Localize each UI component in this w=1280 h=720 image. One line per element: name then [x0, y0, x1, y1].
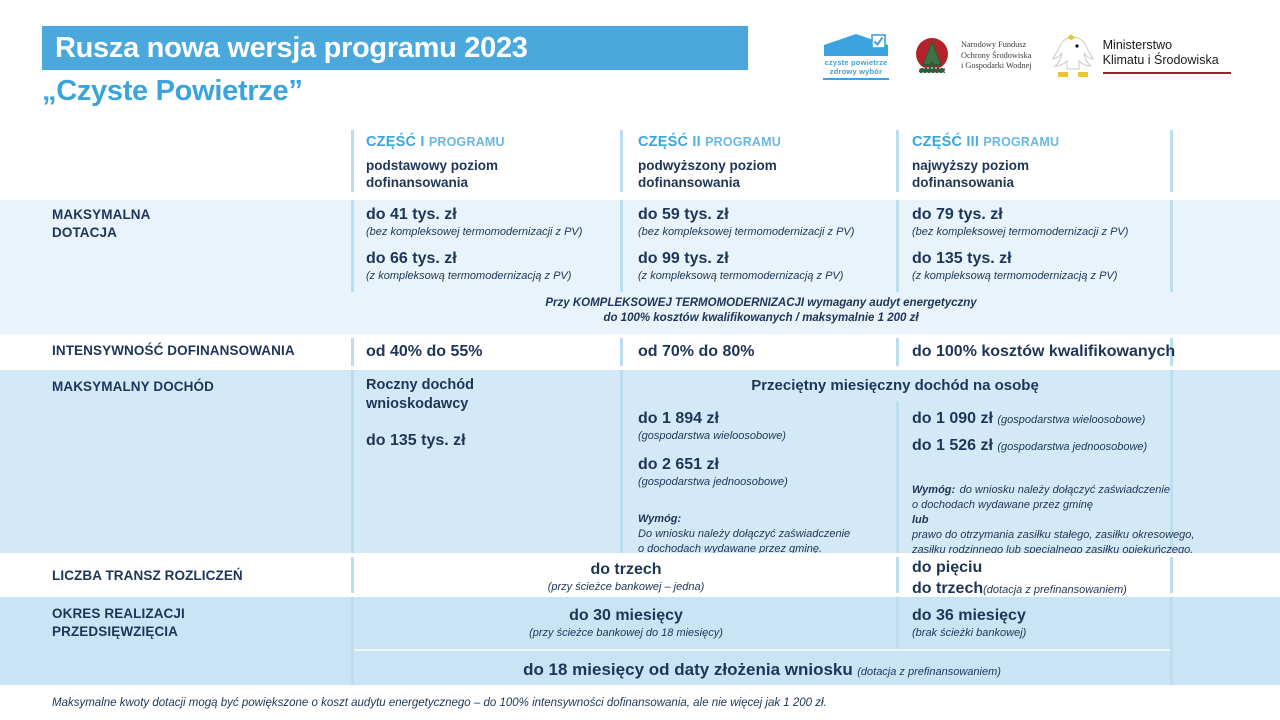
intensywnosc-divider-2	[620, 338, 623, 366]
dochod-c2-b-note: (gospodarstwa jednoosobowe)	[638, 475, 888, 490]
dochod-c3-b-note: (gospodarstwa jednoosobowe)	[997, 441, 1147, 453]
dochod-c3-req-text2: o dochodach wydawane przez gminę	[912, 498, 1252, 513]
nfosigw-line1: Narodowy Fundusz	[961, 40, 1032, 51]
dochod-c3-req-text1: do wniosku należy dołączyć zaświadczenie	[960, 484, 1170, 496]
row-intensywnosc: INTENSYWNOŚĆ DOFINANSOWANIA od 40% do 55…	[0, 334, 1280, 370]
dotacja-c3-a-note: (bez kompleksowej termomodernizacji z PV…	[912, 225, 1172, 240]
column-1-kicker-prefix: CZĘŚĆ	[366, 134, 416, 150]
column-header-band: CZĘŚĆ I PROGRAMU podstawowy poziom dofin…	[0, 112, 1280, 200]
transze-c3-value2: do trzech	[912, 580, 983, 597]
column-2-roman: II	[692, 134, 700, 150]
okres-c12-note: (przy ścieżce bankowej do 18 miesięcy)	[366, 626, 886, 641]
column-2-kicker: CZĘŚĆ II PROGRAMU	[638, 132, 888, 152]
column-3-kicker: CZĘŚĆ III PROGRAMU	[912, 132, 1172, 152]
page-title-line1: Rusza nowa wersja programu 2023	[55, 28, 528, 68]
column-2-kicker-suffix: PROGRAMU	[705, 135, 781, 149]
ministerstwo-line1: Ministerstwo	[1103, 38, 1231, 53]
dochod-banner: Przeciętny miesięczny dochód na osobę	[620, 376, 1170, 395]
column-3-subtitle: najwyższy poziom dofinansowania	[912, 157, 1172, 191]
dotacja-divider-3	[896, 200, 899, 292]
okres-col-3: do 36 miesięcy (brak ścieżki bankowej)	[912, 605, 1252, 641]
okres-c3-note: (brak ścieżki bankowej)	[912, 626, 1252, 641]
column-2-kicker-prefix: CZĘŚĆ	[638, 134, 688, 150]
dotacja-col-2: do 59 tys. zł (bez kompleksowej termomod…	[638, 204, 894, 284]
okres-col-12: do 30 miesięcy (przy ścieżce bankowej do…	[366, 605, 886, 641]
transze-divider-2	[896, 557, 899, 593]
dochod-col-2: do 1 894 zł (gospodarstwa wieloosobowe) …	[638, 408, 888, 557]
dochod-divider-2	[620, 370, 623, 553]
dochod-c1-value: do 135 tys. zł	[366, 430, 610, 451]
dotacja-c2-b-value: do 99 tys. zł	[638, 248, 894, 269]
cp-logo-line2: zdrowy wybór	[830, 67, 882, 76]
dochod-c1-title: Roczny dochód wnioskodawcy	[366, 376, 610, 414]
dochod-c3-req-text3: prawo do otrzymania zasiłku stałego, zas…	[912, 528, 1252, 543]
column-1-roman: I	[420, 134, 424, 150]
row-label-maksymalna-dotacja: MAKSYMALNA DOTACJA	[52, 206, 151, 242]
dotacja-audit-line1: Przy KOMPLEKSOWEJ TERMOMODERNIZACJI wyma…	[351, 296, 1171, 311]
okres-divider-2	[896, 597, 899, 649]
dotacja-c2-a-note: (bez kompleksowej termomodernizacji z PV…	[638, 225, 894, 240]
ministerstwo-line2: Klimatu i Środowiska	[1103, 53, 1231, 68]
logo-nfosigw: Narodowy Fundusz Ochrony Środowiska i Go…	[910, 34, 1032, 78]
header-divider-3	[896, 130, 899, 192]
transze-col-3: do pięciu do trzech(dotacja z prefinanso…	[912, 557, 1252, 599]
cp-logo-line1: czyste powietrze	[825, 58, 888, 67]
intensywnosc-c1: od 40% do 55%	[366, 341, 616, 362]
logo-czyste-powietrze: czyste powietrze zdrowy wybór	[820, 32, 892, 80]
dochod-c2-a-value: do 1 894 zł	[638, 408, 888, 429]
okres-c12-value: do 30 miesięcy	[366, 605, 886, 626]
dochod-col-1: Roczny dochód wnioskodawcy do 135 tys. z…	[366, 376, 610, 451]
column-header-2: CZĘŚĆ II PROGRAMU podwyższony poziom dof…	[638, 132, 888, 191]
column-2-subtitle: podwyższony poziom dofinansowania	[638, 157, 888, 191]
dochod-c3-req-line1: Wymóg: do wniosku należy dołączyć zaświa…	[912, 480, 1252, 498]
nfosigw-line3: i Gospodarki Wodnej	[961, 61, 1032, 72]
polish-eagle-icon	[1050, 32, 1096, 80]
dotacja-col-3: do 79 tys. zł (bez kompleksowej termomod…	[912, 204, 1172, 284]
nfosigw-tree-emblem-icon	[910, 34, 954, 78]
dochod-c2-b-value: do 2 651 zł	[638, 454, 888, 475]
dochod-c2-a-note: (gospodarstwa wieloosobowe)	[638, 429, 888, 444]
okres-c3-value: do 36 miesięcy	[912, 605, 1252, 626]
column-3-kicker-prefix: CZĘŚĆ	[912, 134, 962, 150]
row-maksymalny-dochod: MAKSYMALNY DOCHÓD Roczny dochód wnioskod…	[0, 370, 1280, 553]
row-maksymalna-dotacja: MAKSYMALNA DOTACJA do 41 tys. zł (bez ko…	[0, 200, 1280, 334]
dotacja-divider-1	[351, 200, 354, 292]
dochod-c3-req-label: Wymóg:	[912, 484, 955, 496]
column-1-kicker-suffix: PROGRAMU	[429, 135, 505, 149]
transze-c3-line2: do trzech(dotacja z prefinansowaniem)	[912, 578, 1252, 599]
dochod-c2-req-label: Wymóg:	[638, 512, 888, 527]
intensywnosc-c2: od 70% do 80%	[638, 341, 888, 362]
transze-divider-1	[351, 557, 354, 593]
dotacja-col-1: do 41 tys. zł (bez kompleksowej termomod…	[366, 204, 616, 284]
infographic-page: Rusza nowa wersja programu 2023 „Czyste …	[0, 0, 1280, 720]
okres-full-note: (dotacja z prefinansowaniem)	[857, 666, 1001, 678]
row-liczba-transz: LICZBA TRANSZ ROZLICZEŃ do trzech (przy …	[0, 553, 1280, 597]
header-divider-1	[351, 130, 354, 192]
row-label-okres-realizacji: OKRES REALIZACJI PRZEDSIĘWZIĘCIA	[52, 605, 185, 641]
column-3-kicker-suffix: PROGRAMU	[983, 135, 1059, 149]
transze-c12-value: do trzech	[366, 559, 886, 580]
dochod-divider-1	[351, 370, 354, 553]
dotacja-c1-b-value: do 66 tys. zł	[366, 248, 616, 269]
ministerstwo-rule	[1103, 72, 1231, 74]
dotacja-c2-b-note: (z kompleksową termomodernizacją z PV)	[638, 269, 894, 284]
house-check-icon	[820, 32, 892, 58]
row-label-maksymalny-dochod: MAKSYMALNY DOCHÓD	[52, 378, 214, 396]
dochod-divider-3	[896, 402, 899, 553]
column-1-kicker: CZĘŚĆ I PROGRAMU	[366, 132, 616, 152]
dotacja-c1-b-note: (z kompleksową termomodernizacją z PV)	[366, 269, 616, 284]
okres-full-row: do 18 miesięcy od daty złożenia wniosku …	[354, 659, 1170, 680]
logo-ministerstwo: Ministerstwo Klimatu i Środowiska	[1050, 32, 1231, 80]
nfosigw-logo-text: Narodowy Fundusz Ochrony Środowiska i Go…	[961, 40, 1032, 72]
logo-strip: czyste powietrze zdrowy wybór Narodowy F…	[806, 22, 1268, 90]
column-header-3: CZĘŚĆ III PROGRAMU najwyższy poziom dofi…	[912, 132, 1172, 191]
dochod-col-3: do 1 090 zł (gospodarstwa wieloosobowe) …	[912, 408, 1252, 558]
intensywnosc-c3: do 100% kosztów kwalifikowanych	[912, 341, 1212, 362]
dotacja-c1-a-value: do 41 tys. zł	[366, 204, 616, 225]
column-3-roman: III	[966, 134, 979, 150]
column-1-subtitle: podstawowy poziom dofinansowania	[366, 157, 616, 191]
okres-inner-rule	[354, 649, 1170, 651]
dochod-c3-req-or: lub	[912, 513, 1252, 528]
dotacja-audit-note: Przy KOMPLEKSOWEJ TERMOMODERNIZACJI wyma…	[351, 296, 1171, 326]
dotacja-divider-2	[620, 200, 623, 292]
dochod-c3-a-value: do 1 090 zł	[912, 410, 993, 427]
row-label-liczba-transz: LICZBA TRANSZ ROZLICZEŃ	[52, 567, 243, 585]
column-header-1: CZĘŚĆ I PROGRAMU podstawowy poziom dofin…	[366, 132, 616, 191]
nfosigw-line2: Ochrony Środowiska	[961, 51, 1032, 62]
intensywnosc-divider-1	[351, 338, 354, 366]
dotacja-audit-line2: do 100% kosztów kwalifikowanych / maksym…	[351, 311, 1171, 326]
dotacja-c1-a-note: (bez kompleksowej termomodernizacji z PV…	[366, 225, 616, 240]
row-label-intensywnosc: INTENSYWNOŚĆ DOFINANSOWANIA	[52, 342, 295, 360]
transze-c3-note2: (dotacja z prefinansowaniem)	[983, 584, 1127, 596]
dotacja-c3-b-value: do 135 tys. zł	[912, 248, 1172, 269]
footnote: Maksymalne kwoty dotacji mogą być powięk…	[52, 696, 827, 711]
dotacja-c2-a-value: do 59 tys. zł	[638, 204, 894, 225]
dochod-c3-b-value: do 1 526 zł	[912, 437, 993, 454]
intensywnosc-divider-3	[896, 338, 899, 366]
dotacja-c3-a-value: do 79 tys. zł	[912, 204, 1172, 225]
transze-col-12: do trzech (przy ścieżce bankowej – jedna…	[366, 559, 886, 595]
page-title-line2: „Czyste Powietrze”	[42, 74, 303, 108]
okres-full-value: do 18 miesięcy od daty złożenia wniosku	[523, 660, 853, 679]
dotacja-c3-b-note: (z kompleksową termomodernizacją z PV)	[912, 269, 1172, 284]
transze-c12-note: (przy ścieżce bankowej – jedna)	[366, 580, 886, 595]
dochod-c3-a-line: do 1 090 zł (gospodarstwa wieloosobowe)	[912, 408, 1252, 429]
transze-c3-value1: do pięciu	[912, 557, 1252, 578]
row-okres-realizacji: OKRES REALIZACJI PRZEDSIĘWZIĘCIA do 30 m…	[0, 597, 1280, 685]
dochod-c3-b-line: do 1 526 zł (gospodarstwa jednoosobowe)	[912, 435, 1252, 456]
header-divider-2	[620, 130, 623, 192]
dochod-c3-a-note: (gospodarstwa wieloosobowe)	[997, 414, 1145, 426]
header: Rusza nowa wersja programu 2023 „Czyste …	[0, 0, 1280, 112]
cp-logo-rule	[823, 78, 889, 80]
